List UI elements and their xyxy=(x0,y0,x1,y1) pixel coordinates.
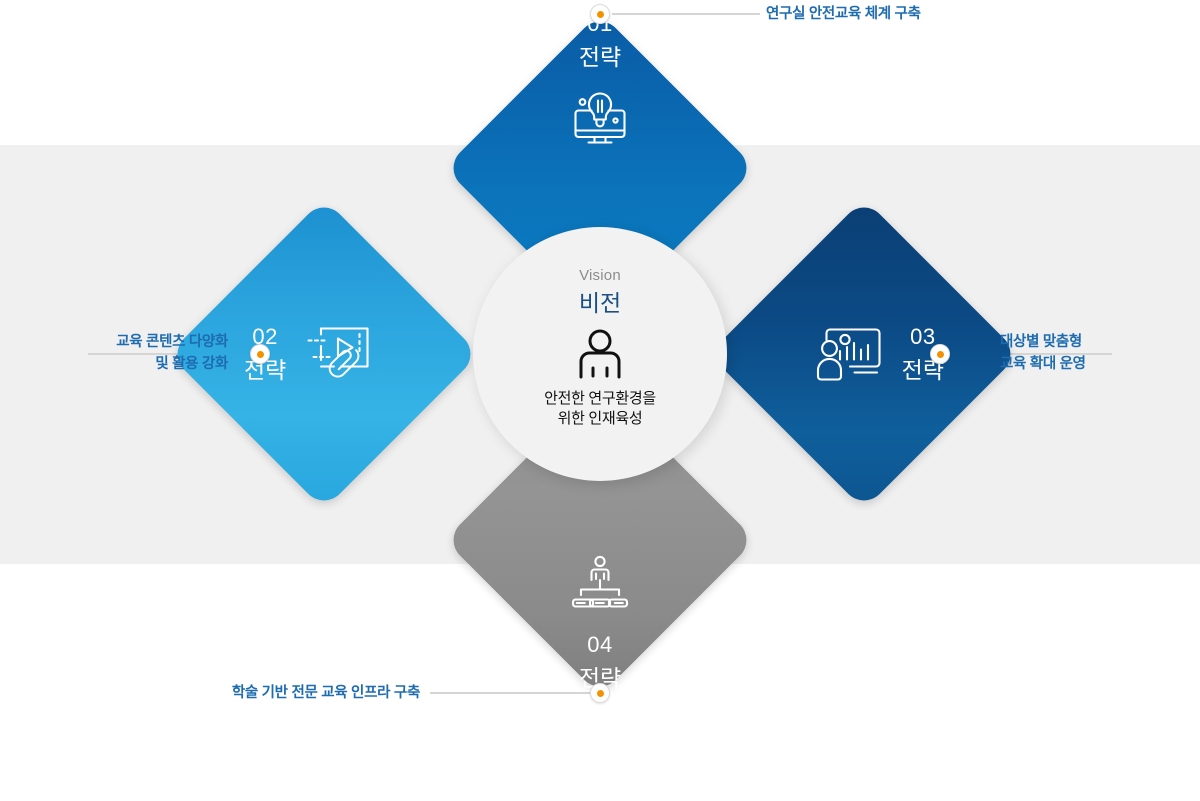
connector-dot-01[interactable] xyxy=(590,4,610,24)
video-attachment-icon xyxy=(304,320,376,388)
callout-02: 교육 콘텐츠 다양화 및 활용 강화 xyxy=(0,331,228,375)
strategy-01-word: 전략 xyxy=(579,46,621,69)
dot-center-03 xyxy=(937,351,944,358)
monitor-lightbulb-icon xyxy=(568,87,632,149)
vision-description-line1: 안전한 연구환경을 xyxy=(544,389,656,409)
dot-center-02 xyxy=(257,351,264,358)
dot-center-01 xyxy=(597,11,604,18)
callout-01: 연구실 안전교육 체계 구축 xyxy=(766,3,921,25)
vision-circle: Vision 비전 안전한 연구환경을 위한 인재육성 xyxy=(473,227,727,481)
callout-04-text: 학술 기반 전문 교육 인프라 구축 xyxy=(232,685,420,701)
connector-dot-04[interactable] xyxy=(590,683,610,703)
org-chart-icon xyxy=(571,554,629,612)
connector-dot-03[interactable] xyxy=(930,344,950,364)
person-icon xyxy=(575,328,625,380)
strategy-diamond-03[interactable]: 03 전략 xyxy=(708,198,1019,509)
strategy-03-number: 03 xyxy=(910,326,935,348)
vision-description-line2: 위한 인재육성 xyxy=(544,409,656,429)
callout-02-line1: 교육 콘텐츠 다양화 xyxy=(0,331,228,353)
dot-center-04 xyxy=(597,690,604,697)
infographic-canvas: 01 전략 02 전략 xyxy=(0,0,1200,708)
vision-label-en: Vision xyxy=(579,268,621,283)
connector-line-01 xyxy=(612,13,760,15)
callout-03: 대상별 맞춤형 교육 확대 운영 xyxy=(1000,331,1200,375)
vision-label-ko: 비전 xyxy=(579,292,621,315)
callout-03-line1: 대상별 맞춤형 xyxy=(1000,331,1200,353)
callout-04: 학술 기반 전문 교육 인프라 구축 xyxy=(0,682,420,704)
presentation-audience-icon xyxy=(816,323,884,385)
callout-02-line2: 및 활용 강화 xyxy=(0,353,228,375)
connector-dot-02[interactable] xyxy=(250,344,270,364)
vision-description: 안전한 연구환경을 위한 인재육성 xyxy=(544,389,656,429)
strategy-04-number: 04 xyxy=(587,634,612,656)
strategy-02-content: 02 전략 xyxy=(214,244,434,464)
connector-line-04 xyxy=(430,692,595,694)
callout-03-line2: 교육 확대 운영 xyxy=(1000,353,1200,375)
callout-01-text: 연구실 안전교육 체계 구축 xyxy=(766,6,921,22)
